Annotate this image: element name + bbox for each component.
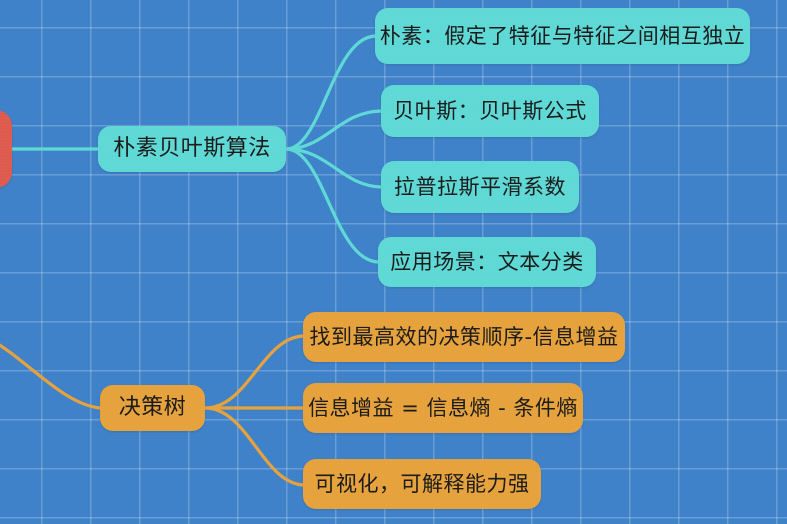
mindmap-node-dt-child-2[interactable]: 信息增益 = 信息熵 - 条件熵 <box>303 383 583 433</box>
mindmap-node-root[interactable] <box>0 110 12 188</box>
link-dt-child-1 <box>205 336 303 408</box>
mindmap-node-nb-child-1[interactable]: 朴素：假定了特征与特征之间相互独立 <box>375 8 750 64</box>
mindmap-node-naive-bayes[interactable]: 朴素贝叶斯算法 <box>98 126 286 172</box>
link-dt-child-3 <box>205 408 303 485</box>
mindmap-node-nb-child-4[interactable]: 应用场景：文本分类 <box>378 237 596 287</box>
mindmap-node-nb-child-2[interactable]: 贝叶斯：贝叶斯公式 <box>381 85 599 137</box>
mindmap-node-dt-child-3[interactable]: 可视化，可解释能力强 <box>303 459 541 509</box>
link-root-to-decision-tree <box>0 338 100 408</box>
mindmap-canvas[interactable]: 朴素贝叶斯算法 朴素：假定了特征与特征之间相互独立 贝叶斯：贝叶斯公式 拉普拉斯… <box>0 0 787 524</box>
mindmap-node-nb-child-3[interactable]: 拉普拉斯平滑系数 <box>381 161 579 213</box>
mindmap-node-dt-child-1[interactable]: 找到最高效的决策顺序-信息增益 <box>303 312 625 362</box>
mindmap-node-decision-tree[interactable]: 决策树 <box>100 385 205 431</box>
